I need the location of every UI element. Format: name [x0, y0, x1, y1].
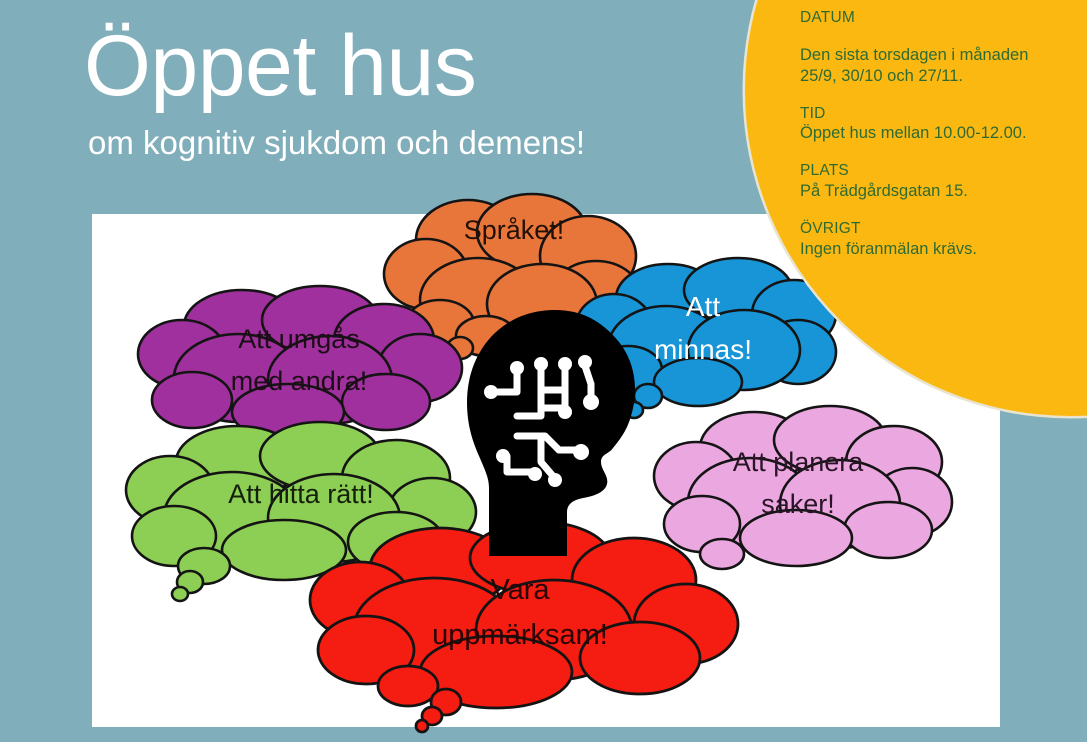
info-line-plats-1: På Trädgårdsgatan 15. — [800, 181, 1085, 202]
head-silhouette-icon — [455, 306, 655, 556]
spacer — [800, 28, 1085, 45]
info-heading-plats: PLATS — [800, 161, 1085, 181]
info-text-block: DATUM Den sista torsdagen i månaden 25/9… — [800, 8, 1085, 259]
head-outline — [467, 310, 635, 556]
info-line-datum-2: 25/9, 30/10 och 27/11. — [800, 66, 1085, 87]
title-block: Öppet hus om kognitiv sjukdom och demens… — [84, 24, 744, 162]
info-line-ovrigt-1: Ingen föranmälan krävs. — [800, 239, 1085, 260]
spacer — [800, 87, 1085, 104]
page-subtitle: om kognitiv sjukdom och demens! — [88, 124, 744, 162]
info-heading-ovrigt: ÖVRIGT — [800, 219, 1085, 239]
poster-canvas: Öppet hus om kognitiv sjukdom och demens… — [0, 0, 1087, 742]
info-heading-tid: TID — [800, 104, 1085, 124]
thought-bubble-umgas: Att umgås med andra! — [134, 282, 464, 440]
info-line-datum-1: Den sista torsdagen i månaden — [800, 45, 1085, 66]
page-title: Öppet hus — [84, 24, 744, 108]
spacer — [800, 144, 1085, 161]
info-line-tid-1: Öppet hus mellan 10.00-12.00. — [800, 123, 1085, 144]
head-silhouette — [455, 306, 655, 550]
spacer — [800, 202, 1085, 219]
info-heading-datum: DATUM — [800, 8, 1085, 28]
